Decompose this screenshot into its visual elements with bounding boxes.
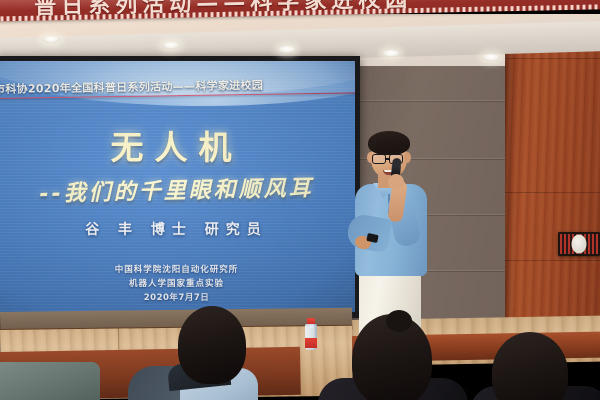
student-hair-tuft	[386, 310, 412, 332]
student-head	[178, 306, 246, 384]
ceiling-downlight	[278, 46, 296, 53]
projection-screen: 市科协2020年全国科普日系列活动——科学家进校园 无人机 --我们的千里眼和顺…	[0, 61, 355, 312]
presenter-hair	[368, 131, 410, 155]
ceiling-downlight	[382, 50, 400, 57]
screen-vignette	[0, 61, 355, 312]
projection-screen-frame: 市科协2020年全国科普日系列活动——科学家进校园 无人机 --我们的千里眼和顺…	[0, 56, 360, 318]
audience-row	[0, 300, 600, 400]
auditorium-photo: 普日系列活动——科学家进校园 市科协2020年全国科普日系列活动——科学家进校园…	[0, 0, 600, 400]
ceiling-downlight	[42, 36, 60, 43]
ceiling-downlight	[162, 42, 180, 49]
water-bottle	[305, 316, 317, 350]
seat-back	[0, 362, 100, 400]
eyeglasses-icon	[372, 154, 386, 164]
wall-plaque-icon	[558, 232, 600, 256]
student-head	[492, 332, 568, 400]
presenter-right-hand	[388, 174, 404, 190]
ceiling-downlight	[482, 54, 500, 61]
